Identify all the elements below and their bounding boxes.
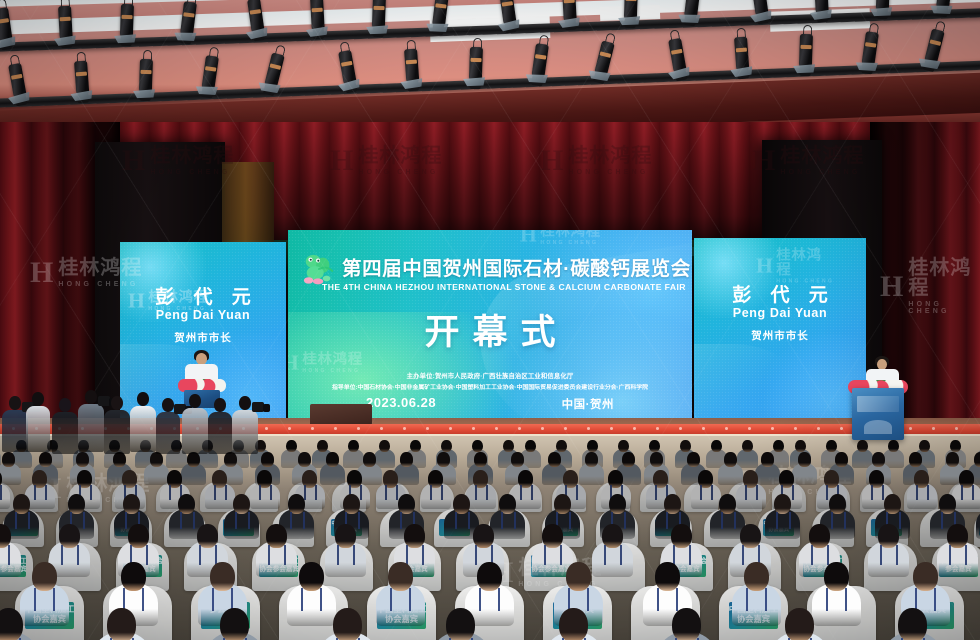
lamp-body	[373, 28, 384, 37]
stage-edge-light	[357, 427, 360, 430]
audience-head	[333, 608, 362, 640]
stage-edge-light	[702, 427, 705, 430]
spotlight-fixture	[404, 49, 419, 84]
stage-edge-light	[449, 427, 452, 430]
audience-head	[835, 452, 848, 467]
photographer-body	[52, 412, 78, 454]
audience-head	[503, 440, 514, 452]
press-photographer	[78, 390, 104, 452]
lanyard-strap	[353, 545, 355, 565]
audience-head	[672, 608, 701, 640]
audience-head	[795, 440, 806, 452]
lamp-body	[936, 7, 948, 17]
lanyard-strap	[385, 485, 387, 500]
audience-member	[0, 608, 38, 640]
lamp-clamp	[140, 70, 151, 74]
lamp-body	[201, 88, 213, 98]
spotlight-fixture	[562, 0, 577, 23]
stage-edge-light	[426, 427, 429, 430]
spotlight-fixture	[734, 36, 749, 71]
lanyard-strap	[268, 545, 270, 565]
lamp-clamp	[250, 9, 261, 14]
lanyard-strap	[721, 512, 723, 529]
stage-edge-light	[955, 427, 958, 430]
lamp-body	[861, 64, 873, 74]
audience-head	[919, 440, 930, 452]
audience-head	[511, 452, 524, 467]
audience-head	[680, 440, 691, 452]
audience-head	[649, 440, 660, 452]
lanyard-strap	[756, 485, 758, 500]
lamp-clamp	[406, 60, 417, 65]
lanyard-strap	[0, 485, 2, 500]
audience-member	[319, 608, 377, 640]
organizer-line: 主办单位:贺州市人民政府·广西壮族自治区工业和信息化厅	[288, 371, 692, 380]
stage-edge-light	[541, 427, 544, 430]
audience-head	[187, 452, 200, 467]
lanyard-strap	[315, 485, 317, 500]
photographer-body	[232, 410, 258, 454]
spotlight-fixture	[338, 50, 357, 86]
audience-head	[585, 452, 598, 467]
lanyard-strap	[430, 485, 432, 500]
spotlight-fixture	[594, 40, 615, 76]
audience-head	[76, 452, 89, 467]
press-photographer	[130, 392, 156, 452]
stage-edge-light	[587, 427, 590, 430]
spotlight-fixture	[531, 43, 549, 78]
audience-head	[2, 452, 15, 467]
spotlight-fixture	[469, 46, 483, 80]
lamp-body	[180, 34, 192, 44]
audience-head	[785, 608, 814, 640]
spotlight-fixture	[372, 0, 386, 29]
lanyard-strap	[746, 588, 748, 612]
lamp-body	[313, 30, 324, 40]
lamp-body	[800, 67, 811, 76]
lamp-body	[15, 95, 27, 106]
audience-head	[872, 452, 885, 467]
lamp-clamp	[736, 47, 747, 52]
lamp-body	[923, 60, 936, 71]
spotlight-fixture	[310, 0, 325, 31]
lanyard-strap	[498, 588, 500, 612]
lanyard-strap	[916, 485, 918, 500]
lanyard-strap	[880, 545, 882, 565]
audience-head	[946, 452, 959, 467]
right-led-screen: 彭 代 元 Peng Dai Yuan 贺州市市长 H 桂林鸿程 HONG CH…	[694, 238, 866, 424]
audience-head	[950, 440, 961, 452]
stage-edge-light	[518, 427, 521, 430]
lamp-clamp	[470, 57, 481, 61]
left-speaker-name-zh: 彭 代 元	[120, 282, 286, 309]
audience-head	[363, 452, 376, 467]
lanyard-strap	[604, 545, 606, 565]
spotlight-fixture	[751, 0, 769, 16]
photographer-head	[239, 396, 251, 410]
lanyard-strap	[8, 545, 10, 565]
lanyard-strap	[544, 545, 546, 565]
audience-seating: 参会嘉宾中国塑料加工协会嘉宾参会嘉宾中国塑料加工协会嘉宾参会嘉宾中国塑料加工协会…	[0, 436, 980, 640]
lamp-body	[77, 94, 89, 104]
right-speaker-name-zh: 彭 代 元	[694, 280, 866, 307]
stage-edge-light	[495, 427, 498, 430]
photographer-head	[137, 392, 149, 406]
lamp-body	[877, 10, 888, 19]
photographer-head	[189, 394, 201, 408]
audience-head	[687, 452, 700, 467]
audience-member	[884, 608, 942, 640]
lamp-clamp	[205, 67, 216, 72]
audience-head	[286, 440, 297, 452]
press-photographer	[208, 398, 232, 454]
lanyard-strap	[303, 512, 305, 529]
lamp-body	[407, 82, 419, 92]
photographer-body	[182, 408, 208, 454]
stage-edge-light	[403, 427, 406, 430]
spotlight-fixture	[861, 31, 879, 66]
lamp-body	[505, 22, 517, 32]
stage-edge-light	[748, 427, 751, 430]
stage-edge-light	[334, 427, 337, 430]
audience-head	[525, 440, 536, 452]
photographer-head	[162, 398, 174, 412]
lamp-clamp	[341, 61, 353, 67]
audience-member	[93, 608, 151, 640]
spotlight-fixture	[8, 63, 27, 99]
photographer-body	[130, 406, 156, 452]
main-led-screen: 第四届中国贺州国际石材·碳酸钙展览会 THE 4TH CHINA HEZHOU …	[288, 230, 692, 422]
lanyard-strap	[896, 545, 898, 565]
audience-head	[857, 440, 868, 452]
audience-head	[220, 608, 249, 640]
speaker-podium	[852, 388, 904, 440]
lanyard-strap	[45, 485, 47, 500]
audience-head	[107, 608, 136, 640]
lanyard-strap	[248, 512, 250, 529]
lamp-clamp	[11, 74, 23, 80]
camera-icon	[252, 402, 264, 412]
audience-head	[474, 452, 487, 467]
lanyard-strap	[486, 485, 488, 500]
lanyard-strap	[789, 512, 791, 529]
lamp-clamp	[535, 54, 546, 59]
photographer-body	[104, 410, 130, 454]
photographer-head	[9, 396, 21, 410]
lamp-body	[531, 76, 543, 86]
lamp-body	[1, 40, 13, 50]
press-photographer	[156, 398, 180, 454]
lamp-clamp	[625, 0, 636, 1]
stage-edge-light	[633, 427, 636, 430]
stage-edge-light	[679, 427, 682, 430]
right-speaker-name-en: Peng Dai Yuan	[694, 306, 866, 320]
stage-edge-light	[932, 427, 935, 430]
spotlight-fixture	[814, 0, 829, 14]
photographer-head	[59, 398, 71, 412]
lanyard-strap	[845, 588, 847, 612]
lamp-clamp	[60, 17, 71, 22]
lanyard-strap	[337, 545, 339, 565]
lanyard-strap	[700, 485, 702, 500]
spotlight-fixture	[139, 59, 153, 93]
lanyard-strap	[531, 485, 533, 500]
lamp-clamp	[865, 42, 876, 47]
audience-member	[0, 524, 21, 584]
photographer-head	[111, 396, 123, 410]
podium-banner-text	[857, 396, 899, 412]
audience-head	[39, 452, 52, 467]
stage-edge-light	[909, 427, 912, 430]
photographer-body	[26, 406, 50, 452]
photographer-head	[85, 390, 97, 404]
audience-member	[545, 608, 603, 640]
audience-head	[559, 608, 588, 640]
audience-member	[206, 608, 264, 640]
lanyard-strap	[620, 545, 622, 565]
photographer-body	[156, 412, 180, 454]
photographer-body	[78, 404, 104, 452]
press-photographer	[2, 396, 28, 452]
lamp-body	[757, 14, 769, 24]
lanyard-strap	[871, 485, 873, 500]
audience-member	[771, 608, 829, 640]
lamp-body	[593, 72, 606, 83]
lamp-body	[684, 16, 696, 26]
stage-edge-light	[817, 427, 820, 430]
audience-head	[548, 452, 561, 467]
lanyard-strap	[301, 588, 303, 612]
right-speaker-title: 贺州市市长	[694, 328, 866, 343]
spotlight-fixture	[924, 28, 945, 64]
event-place: 中国·贺州	[562, 396, 614, 412]
lamp-clamp	[600, 51, 612, 58]
stage-edge-light	[380, 427, 383, 430]
lamp-clamp	[671, 49, 683, 55]
audience-head	[826, 440, 837, 452]
lanyard-strap	[776, 512, 778, 529]
lamp-body	[140, 92, 151, 101]
audience-head	[618, 440, 629, 452]
lamp-clamp	[930, 39, 942, 46]
stage-edge-light	[564, 427, 567, 430]
lanyard-strap	[965, 545, 967, 565]
audience-head	[326, 452, 339, 467]
lanyard-strap	[214, 485, 216, 500]
audience-head	[724, 452, 737, 467]
lamp-clamp	[312, 8, 323, 13]
audience-head	[0, 608, 23, 640]
ceiling-lighting-rig	[0, 0, 980, 128]
lamp-clamp	[121, 15, 132, 19]
audience-member	[224, 494, 259, 545]
audience-head	[410, 440, 421, 452]
audience-head	[974, 452, 980, 467]
audience-head	[113, 452, 126, 467]
audience-member	[376, 562, 425, 635]
stage-edge-light	[725, 427, 728, 430]
lanyard-strap	[180, 512, 182, 529]
photographer-body	[2, 410, 28, 452]
conference-hall-photo: 彭 代 元 Peng Dai Yuan 贺州市市长 H 桂林鸿程 HONG CH…	[0, 0, 980, 640]
lanyard-strap	[765, 588, 767, 612]
lanyard-strap	[409, 588, 411, 612]
spotlight-fixture	[668, 38, 687, 74]
spotlight-fixture	[624, 0, 638, 20]
lamp-clamp	[564, 0, 575, 4]
spotlight-fixture	[264, 52, 285, 88]
audience-head	[742, 440, 753, 452]
photographer-body	[208, 412, 232, 454]
press-photographer	[182, 394, 208, 454]
guidance-line: 指导单位:中国石材协会·中国非金属矿工业协会·中国塑料加工工业协会·中国国际贸易…	[288, 382, 692, 391]
lamp-body	[737, 69, 749, 79]
lanyard-strap	[284, 545, 286, 565]
audience-head	[400, 452, 413, 467]
spotlight-fixture	[58, 6, 73, 41]
audience-head	[622, 452, 635, 467]
audience-member	[658, 608, 716, 640]
audience-head	[224, 452, 237, 467]
audience-head	[441, 440, 452, 452]
stage-edge-light	[794, 427, 797, 430]
lamp-clamp	[0, 18, 9, 23]
audience-head	[317, 440, 328, 452]
lanyard-strap	[235, 512, 237, 529]
audience-head	[761, 452, 774, 467]
lanyard-strap	[455, 512, 457, 529]
audience-head	[711, 440, 722, 452]
spotlight-fixture	[180, 1, 197, 36]
spotlight-fixture	[201, 55, 219, 90]
ceremony-headline: 开幕式	[288, 304, 692, 355]
lamp-clamp	[270, 63, 282, 70]
press-photographer	[232, 396, 258, 454]
lamp-clamp	[502, 1, 513, 6]
stage-edge-light	[311, 427, 314, 430]
lamp-body	[121, 37, 132, 46]
event-date: 2023.06.28	[366, 395, 436, 410]
lanyard-strap	[844, 512, 846, 529]
lanyard-strap	[259, 485, 261, 500]
audience-member	[432, 608, 490, 640]
left-speaker-name-en: Peng Dai Yuan	[120, 308, 286, 322]
left-speaker-title: 贺州市市长	[120, 330, 286, 345]
lanyard-strap	[745, 485, 747, 500]
spotlight-fixture	[876, 0, 890, 12]
audience-head	[348, 440, 359, 452]
podium-graphic	[864, 420, 892, 434]
audience-head	[587, 440, 598, 452]
lanyard-strap	[972, 485, 974, 500]
audience-head	[379, 440, 390, 452]
stage-edge-light	[656, 427, 659, 430]
watermark-brand-zh: 桂林鸿程	[776, 248, 835, 277]
photographer-head	[214, 398, 226, 412]
audience-head	[472, 440, 483, 452]
audience-head	[773, 440, 784, 452]
stage-edge-light	[472, 427, 475, 430]
audience-head	[437, 452, 450, 467]
lanyard-strap	[927, 485, 929, 500]
lamp-clamp	[183, 12, 194, 17]
audience-head	[898, 608, 927, 640]
audience-head	[298, 452, 311, 467]
lamp-body	[432, 25, 444, 35]
audience-head	[650, 452, 663, 467]
spotlight-fixture	[74, 61, 89, 96]
press-photographer	[104, 396, 130, 454]
lanyard-strap	[390, 588, 392, 612]
lanyard-strap	[77, 545, 79, 565]
spotlight-fixture	[799, 34, 813, 68]
photographer-head	[32, 392, 44, 406]
press-photographer	[52, 398, 78, 454]
stage-edge-light	[288, 427, 291, 430]
stage-edge-light	[771, 427, 774, 430]
fair-title-en: THE 4TH CHINA HEZHOU INTERNATIONAL STONE…	[316, 282, 692, 292]
audience-head	[556, 440, 567, 452]
lamp-body	[817, 12, 828, 22]
stage-edge-light	[265, 427, 268, 430]
audience-head	[888, 440, 899, 452]
press-photographer	[26, 392, 50, 452]
stage-edge-light	[840, 427, 843, 430]
lamp-clamp	[435, 3, 446, 8]
lanyard-strap	[270, 485, 272, 500]
spotlight-fixture	[120, 4, 134, 38]
lamp-body	[61, 39, 72, 49]
lanyard-strap	[53, 588, 55, 612]
audience-head	[150, 452, 163, 467]
lamp-body	[470, 79, 481, 88]
stage-edge-light	[610, 427, 613, 430]
audience-head	[798, 452, 811, 467]
lamp-body	[625, 19, 636, 28]
lamp-clamp	[373, 6, 384, 10]
lanyard-strap	[441, 485, 443, 500]
audience-head	[261, 452, 274, 467]
audience-head	[909, 452, 922, 467]
lanyard-strap	[514, 512, 516, 529]
fair-title-zh: 第四届中国贺州国际石材·碳酸钙展览会	[342, 252, 691, 281]
audience-head	[446, 608, 475, 640]
lamp-body	[565, 21, 576, 31]
lanyard-strap	[28, 512, 30, 529]
lamp-clamp	[800, 45, 811, 49]
lamp-clamp	[76, 72, 87, 77]
